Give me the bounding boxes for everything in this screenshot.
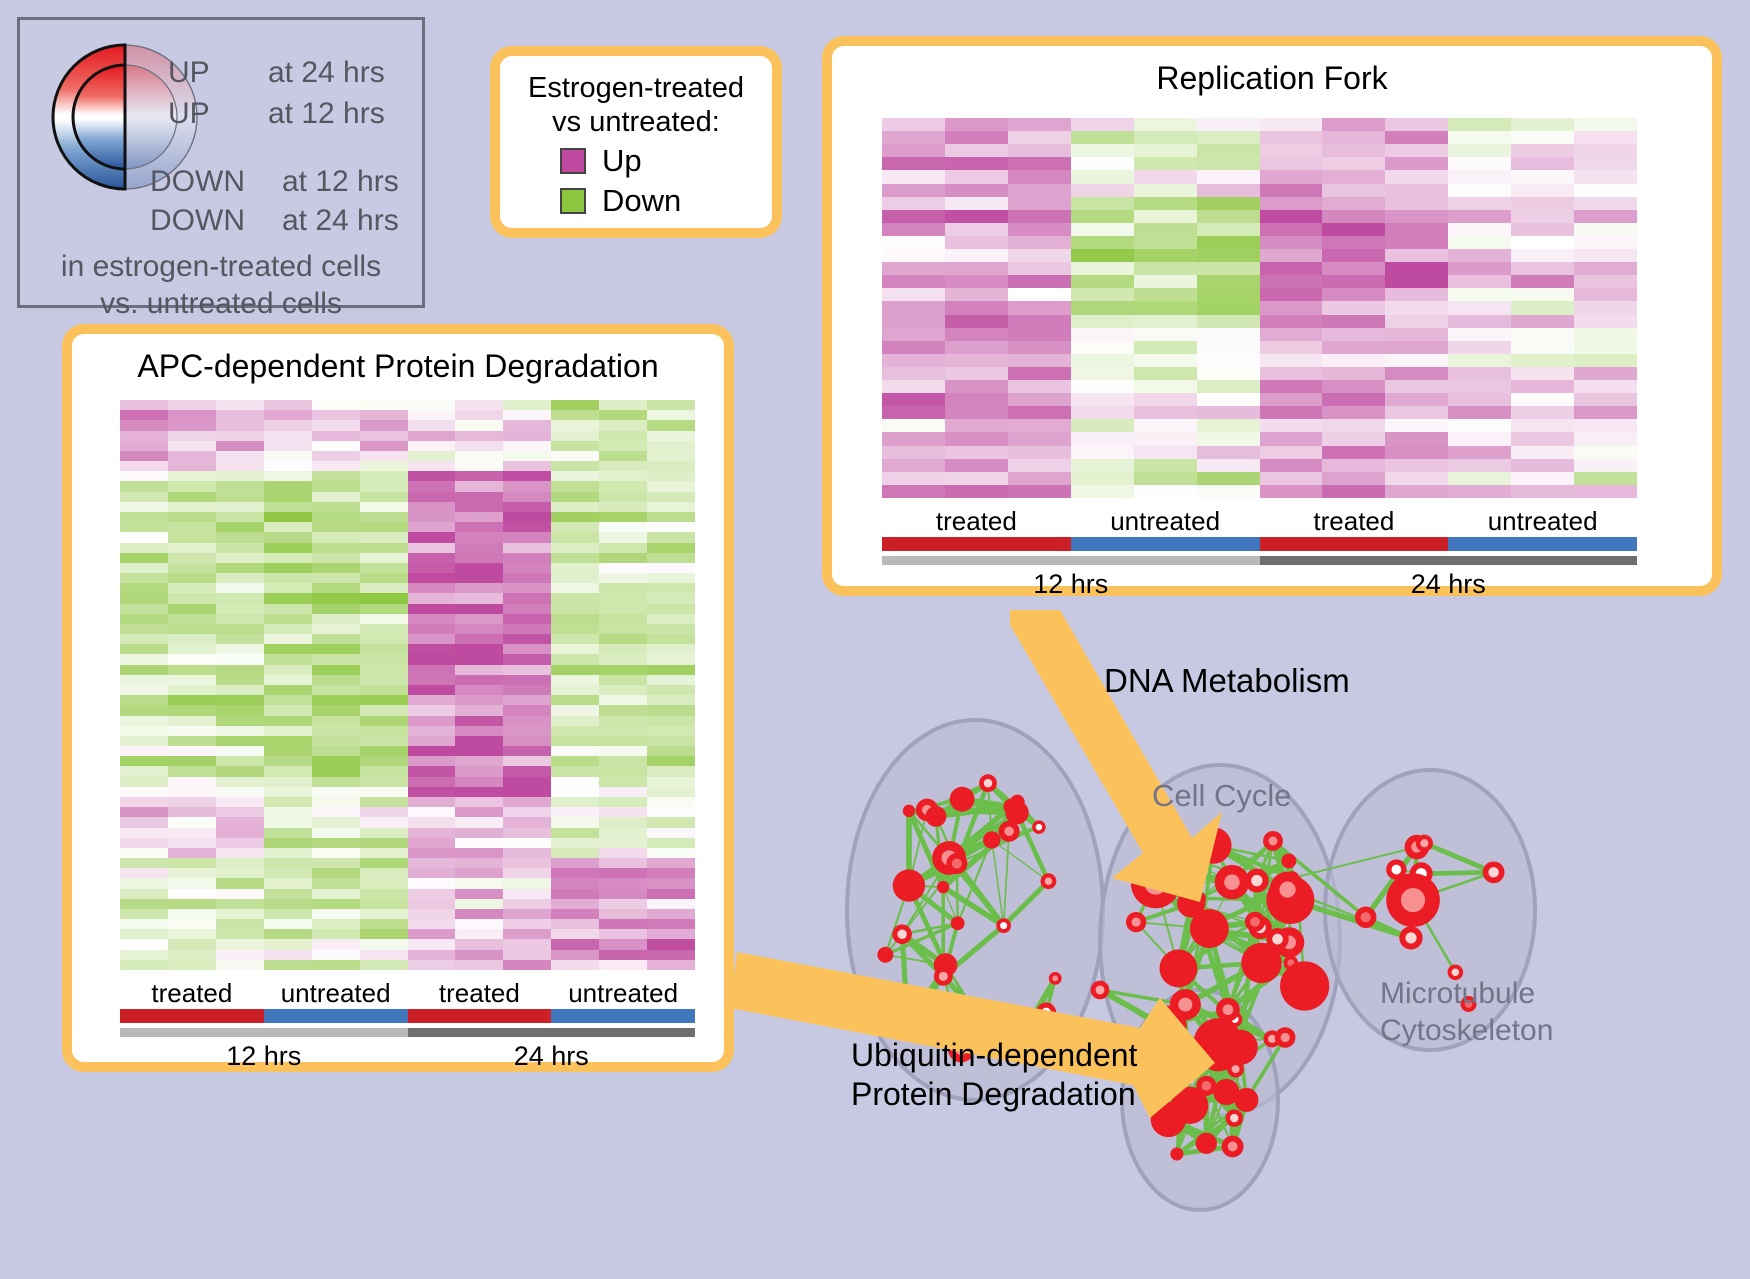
- timepoint-bar-segment: [882, 556, 1260, 565]
- treatment-color-bar: [120, 1009, 695, 1023]
- network-node: [1170, 989, 1201, 1020]
- cluster-label-dna-metabolism: DNA Metabolism: [1104, 662, 1350, 700]
- network-node: [1227, 1061, 1244, 1078]
- treatment-bar-segment: [1260, 537, 1449, 551]
- timepoint-label: 24 hrs: [408, 1037, 696, 1072]
- panel-title-replication-fork: Replication Fork: [832, 60, 1712, 97]
- key-label-up-24: UP: [168, 56, 210, 90]
- network-node: [1194, 1018, 1243, 1067]
- key-label-down-12: DOWN: [150, 165, 245, 199]
- treatment-bar-segment: [264, 1009, 408, 1023]
- key-time-down-12: at 12 hrs: [282, 165, 399, 199]
- cluster-label-ubiquitin-degradation: Ubiquitin-dependent Protein Degradation: [851, 1036, 1137, 1114]
- network-node: [1091, 981, 1110, 1000]
- legend-title-line2: vs untreated:: [500, 106, 772, 140]
- timepoint-color-bar: [120, 1028, 695, 1037]
- network-node: [1196, 1133, 1217, 1154]
- network-node: [1196, 1076, 1216, 1096]
- network-node: [1270, 872, 1306, 908]
- treatment-bar-segment: [120, 1009, 264, 1023]
- key-footer-line2: vs. untreated cells: [20, 285, 422, 322]
- panel-apc-degradation: APC-dependent Protein Degradation treate…: [62, 324, 734, 1072]
- sample-group-label: untreated: [264, 978, 408, 1009]
- network-node: [1151, 1102, 1186, 1137]
- network-node: [1126, 912, 1146, 932]
- network-node: [899, 1018, 917, 1036]
- network-node: [1222, 1135, 1244, 1157]
- network-node: [1483, 861, 1505, 883]
- network-node: [1195, 827, 1231, 863]
- cluster-label-microtubule-cytoskeleton: Microtubule Cytoskeleton: [1380, 976, 1553, 1049]
- key-label-up-12: UP: [168, 97, 210, 131]
- network-node: [1032, 820, 1045, 833]
- timepoint-bar-segment: [408, 1028, 696, 1037]
- sample-group-label: treated: [882, 506, 1071, 537]
- network-node: [1215, 865, 1250, 900]
- legend-swatch-up-icon: [560, 148, 586, 174]
- legend-swatch-down-icon: [560, 188, 586, 214]
- network-node: [1355, 907, 1376, 928]
- network-node: [1049, 972, 1062, 985]
- network-node: [1399, 926, 1422, 949]
- up-down-legend-card: Estrogen-treated vs untreated: Up Down: [490, 46, 782, 238]
- network-node: [1170, 1148, 1183, 1161]
- network-node: [1386, 859, 1406, 879]
- network-node: [1041, 873, 1057, 889]
- legend-item-up: Up: [560, 143, 772, 179]
- legend-title-line1: Estrogen-treated: [500, 72, 772, 106]
- treatment-bar-segment: [1071, 537, 1260, 551]
- sample-group-label: untreated: [1448, 506, 1637, 537]
- sample-group-label: treated: [408, 978, 552, 1009]
- timepoint-label: 12 hrs: [120, 1037, 408, 1072]
- network-node: [877, 947, 893, 963]
- key-time-up-24: at 24 hrs: [268, 56, 385, 90]
- key-time-up-12: at 12 hrs: [268, 97, 385, 131]
- network-node: [1036, 1002, 1056, 1022]
- network-node: [983, 831, 1000, 848]
- sample-group-label: treated: [120, 978, 264, 1009]
- timepoint-bar-segment: [1260, 556, 1638, 565]
- timepoint-labels: 12 hrs24 hrs: [120, 1037, 695, 1072]
- network-node: [1159, 949, 1197, 987]
- network-node: [1234, 1088, 1258, 1112]
- network-node: [1416, 835, 1433, 852]
- network-node: [951, 916, 965, 930]
- network-node: [1166, 1034, 1183, 1051]
- network-node: [996, 918, 1011, 933]
- network-node: [1386, 873, 1440, 927]
- network-node: [1281, 853, 1296, 868]
- timepoint-color-bar: [882, 556, 1637, 565]
- legend-label-up: Up: [602, 143, 642, 179]
- network-node: [926, 806, 947, 827]
- expression-key-box: UP at 24 hrs UP at 12 hrs DOWN at 12 hrs…: [17, 17, 425, 308]
- annotation-apc: treateduntreatedtreateduntreated 12 hrs2…: [120, 978, 695, 1072]
- network-node: [979, 774, 997, 792]
- timepoint-label: 24 hrs: [1260, 565, 1638, 600]
- cluster-label-cell-cycle: Cell Cycle: [1152, 778, 1292, 814]
- network-node: [1266, 928, 1288, 950]
- network-node: [1280, 961, 1329, 1010]
- sample-group-labels: treateduntreatedtreateduntreated: [120, 978, 695, 1009]
- network-node: [1226, 1109, 1244, 1127]
- treatment-bar-segment: [551, 1009, 695, 1023]
- network-node: [950, 787, 975, 812]
- network-node: [893, 869, 925, 901]
- heatmap-replication-fork: [882, 118, 1637, 498]
- network-node: [1245, 912, 1265, 932]
- treatment-bar-segment: [408, 1009, 552, 1023]
- timepoint-labels: 12 hrs24 hrs: [882, 565, 1637, 600]
- key-time-down-24: at 24 hrs: [282, 204, 399, 238]
- network-node: [946, 853, 967, 874]
- network-node: [903, 805, 915, 817]
- network-node: [1150, 1015, 1162, 1027]
- network-node: [937, 881, 949, 893]
- network-node: [1161, 842, 1180, 861]
- key-label-down-24: DOWN: [150, 204, 245, 238]
- key-footer: in estrogen-treated cells vs. untreated …: [20, 248, 422, 322]
- sample-group-labels: treateduntreatedtreateduntreated: [882, 506, 1637, 537]
- legend-label-down: Down: [602, 183, 681, 219]
- network-node: [1190, 909, 1229, 948]
- sample-group-label: treated: [1260, 506, 1449, 537]
- network-node: [1173, 1058, 1187, 1072]
- annotation-replication-fork: treateduntreatedtreateduntreated 12 hrs2…: [882, 506, 1637, 600]
- network-node: [1275, 1027, 1296, 1048]
- timepoint-label: 12 hrs: [882, 565, 1260, 600]
- sample-group-label: untreated: [1071, 506, 1260, 537]
- key-footer-line1: in estrogen-treated cells: [20, 248, 422, 285]
- treatment-bar-segment: [1448, 537, 1637, 551]
- network-node: [1005, 801, 1028, 824]
- network-node: [1216, 998, 1240, 1022]
- heatmap-apc-degradation: [120, 400, 695, 970]
- pathway-network-diagram: [800, 610, 1750, 1279]
- legend-title: Estrogen-treated vs untreated:: [500, 72, 772, 139]
- treatment-bar-segment: [882, 537, 1071, 551]
- timepoint-bar-segment: [120, 1028, 408, 1037]
- network-node: [1151, 858, 1176, 883]
- panel-title-apc: APC-dependent Protein Degradation: [72, 348, 724, 385]
- network-node: [1263, 831, 1283, 851]
- network-node: [934, 967, 953, 986]
- network-node: [963, 998, 980, 1015]
- sample-group-label: untreated: [551, 978, 695, 1009]
- treatment-color-bar: [882, 537, 1637, 551]
- panel-replication-fork: Replication Fork treateduntreatedtreated…: [822, 36, 1722, 596]
- network-node: [892, 924, 912, 944]
- legend-item-down: Down: [560, 183, 772, 219]
